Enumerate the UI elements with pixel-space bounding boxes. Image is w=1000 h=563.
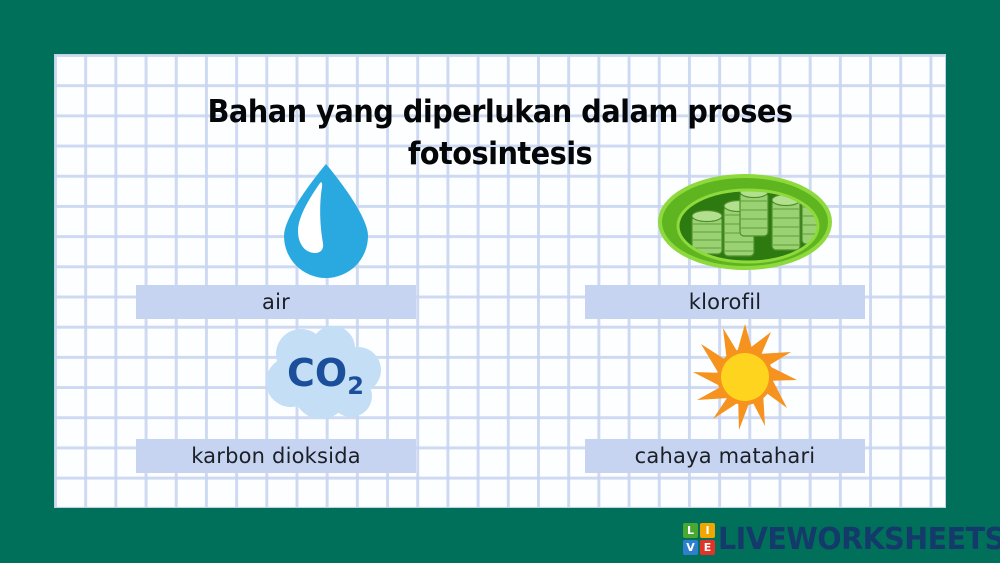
logo-tile-e: E [700, 540, 715, 555]
label-karbon-dioksida: karbon dioksida [136, 439, 416, 473]
logo-tile-v: V [683, 540, 698, 555]
logo-tile-i: I [700, 523, 715, 538]
label-air: air [136, 285, 416, 319]
label-cahaya-matahari: cahaya matahari [585, 439, 865, 473]
co2-cloud-icon: CO2 [181, 320, 471, 430]
water-drop-icon [181, 161, 471, 273]
logo-tile-l: L [683, 523, 698, 538]
label-klorofil: klorofil [585, 285, 865, 319]
sun-icon [580, 320, 910, 430]
worksheet-slide: Bahan yang diperlukan dalam proses fotos… [0, 0, 1000, 563]
liveworksheets-logo-tiles: L I V E [683, 523, 715, 555]
liveworksheets-logo: L I V E LIVEWORKSHEETS [683, 519, 1000, 559]
grid-paper-panel: Bahan yang diperlukan dalam proses fotos… [55, 55, 945, 507]
chloroplast-icon [580, 170, 910, 275]
liveworksheets-wordmark: LIVEWORKSHEETS [718, 522, 1000, 557]
